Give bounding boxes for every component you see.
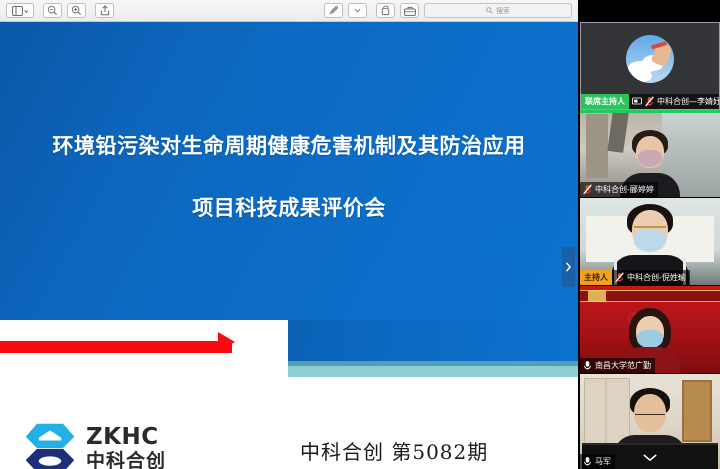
participant-tile[interactable]: 中科合创-郦婷婷 [580,110,720,198]
slide-canvas[interactable]: 环境铅污染对生命周期健康危害机制及其防治应用 项目科技成果评价会 ZKHC 中科… [0,22,578,469]
share-button[interactable] [95,3,114,18]
zoom-in-icon [71,5,82,16]
participant-namebar: 马军 [580,454,615,469]
zkhc-logo: ZKHC 中科合创 [22,420,166,469]
slide-title-line-2: 项目科技成果评价会 [0,192,578,222]
zoom-out-icon [47,5,58,16]
background-door [682,380,712,442]
participant-name: 中科合创-郦婷婷 [595,184,654,195]
mic-icon [583,360,592,371]
participant-name-chip: 南昌大学范广勤 [580,358,655,373]
screen-share-icon [632,97,642,106]
logo-english-text: ZKHC [86,426,166,449]
participant-tile[interactable]: 德高 南昌大学范广勤 [580,286,720,374]
role-badge: 主持人 [580,270,612,285]
toolbox-icon [404,6,416,16]
video-panel-collapse-button[interactable] [562,247,575,287]
slide-teal-band [288,366,578,377]
application-window: 搜索 环境铅污染对生命周期健康危害机制及其防治应用 项目科技成果评价会 ZKHC… [0,0,720,469]
search-icon [486,7,493,14]
participant-tile[interactable]: 主持人 中科合创-倪姓瑜 [580,198,720,286]
participant-tile[interactable]: 联席主持人 中科合创—李婧妤 [580,22,720,110]
zkhc-logo-mark-icon [22,420,78,469]
zkhc-logo-text: ZKHC 中科合创 [86,426,166,469]
speaking-indicator [580,110,720,113]
participant-name: 中科合创-倪姓瑜 [627,272,686,283]
participant-name-chip: 中科合创-郦婷婷 [580,182,658,197]
role-badge: 联席主持人 [581,94,629,109]
search-input[interactable]: 搜索 [424,3,572,18]
zoom-in-button[interactable] [67,3,86,18]
rotate-icon [380,5,391,16]
participant-namebar: 中科合创-郦婷婷 [580,182,658,197]
participant-name: 中科合创—李婧妤 [657,96,719,107]
chevron-right-icon [565,262,572,272]
search-placeholder: 搜索 [496,6,510,16]
share-icon [100,5,110,16]
slide-blue-background [0,22,578,320]
rotate-button[interactable] [376,3,395,18]
slide-footer-caption: 中科合创 第5082期 [300,436,488,465]
slide-title-line-1: 环境铅污染对生命周期健康危害机制及其防治应用 [0,130,578,160]
chevron-down-icon [354,8,361,13]
participant-namebar: 联席主持人 中科合创—李婧妤 [581,94,719,109]
sidebar-toggle-button[interactable] [6,3,34,18]
slide-red-ribbon [0,341,232,353]
participant-name-chip: 马军 [580,454,615,469]
participant-namebar: 南昌大学范广勤 [580,358,655,373]
logo-chinese-text: 中科合创 [86,452,166,469]
participant-name: 南昌大学范广勤 [595,360,651,371]
sidebar-icon [12,6,28,16]
chevron-down-icon [643,454,657,462]
participant-name-chip: 中科合创—李婧妤 [629,94,719,109]
viewer-toolbar: 搜索 [0,0,578,22]
mic-muted-icon [645,96,654,107]
video-participants-panel[interactable]: 联席主持人 中科合创—李婧妤 [580,0,720,469]
slide-blue-step-block [288,320,578,366]
zoom-out-button[interactable] [43,3,62,18]
participant-name: 马军 [595,456,611,467]
markup-dropdown-button[interactable] [348,3,367,18]
participant-tile[interactable]: 马军 [580,374,720,469]
mic-icon [583,456,592,467]
mic-muted-icon [583,184,592,195]
pen-icon [328,5,339,16]
slide-red-arrow-head [218,332,235,352]
markup-button[interactable] [324,3,343,18]
participant-namebar: 主持人 中科合创-倪姓瑜 [580,270,690,285]
annotate-button[interactable] [400,3,419,18]
avatar [626,35,674,83]
mic-muted-icon [615,272,624,283]
participant-name-chip: 中科合创-倪姓瑜 [612,270,690,285]
participant-list-scroll-down-button[interactable] [643,449,657,467]
